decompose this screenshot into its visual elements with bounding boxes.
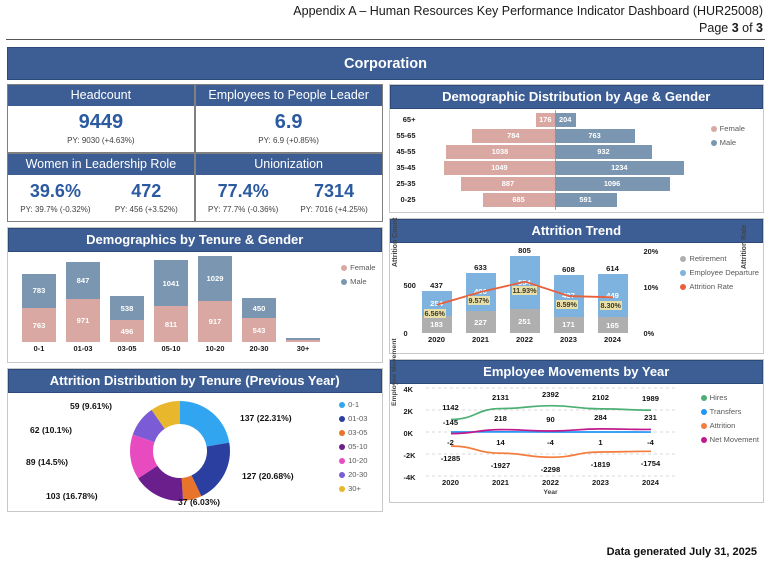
- movements-data-label: 14: [480, 438, 522, 447]
- tenure-segment-male: 847: [66, 262, 100, 299]
- pyramid-bar-male[interactable]: 763: [555, 129, 635, 143]
- panel-title-attrition-trend: Attrition Trend: [390, 219, 764, 243]
- tenure-tick-label: 03-05: [110, 344, 144, 353]
- pyramid-track: 176204: [420, 113, 690, 127]
- pyramid-age-label: 55-65: [390, 131, 420, 140]
- legend-color-dot: [341, 265, 347, 271]
- donut-slice-label: 62 (10.1%): [30, 425, 72, 435]
- movements-tick-label: 2021: [479, 478, 523, 487]
- panel-title-demographic-distribution: Demographic Distribution by Age & Gender: [390, 85, 764, 109]
- chart-employee-movements[interactable]: Employee Movement -4K-2K0K2K4K 114221312…: [390, 384, 764, 502]
- movements-line-attrition[interactable]: [451, 446, 651, 457]
- kpi-prior-year: PY: 77.7% (-0.36%): [198, 204, 289, 215]
- legend-item: Female: [341, 262, 375, 274]
- legend-label: Attrition Rate: [689, 281, 733, 293]
- pyramid-row: 0-25685591: [390, 192, 764, 207]
- kpi-value: 472: [101, 180, 192, 203]
- corporation-banner: Corporation: [7, 47, 764, 80]
- attrition-rate-label: 11.93%: [512, 286, 538, 295]
- movements-x-axis-title: Year: [426, 489, 676, 496]
- kpi-metric: 9449 PY: 9030 (+4.63%): [10, 111, 192, 146]
- movements-y-tick: 4K: [404, 385, 413, 394]
- page-prefix: Page: [699, 21, 732, 35]
- legend-color-dot: [701, 423, 707, 429]
- tenure-segment-male: 1041: [154, 260, 188, 306]
- tenure-tick-label: 30+: [286, 344, 320, 353]
- tenure-legend: FemaleMale: [341, 262, 375, 290]
- footer-generated: Data generated July 31, 2025: [607, 546, 757, 558]
- pyramid-age-label: 0-25: [390, 195, 420, 204]
- legend-color-dot: [711, 126, 717, 132]
- movements-data-label: -4: [530, 438, 572, 447]
- legend-label: Male: [720, 137, 736, 149]
- pyramid-bar-female[interactable]: 1038: [446, 145, 555, 159]
- pyramid-row: 35-4510491234: [390, 160, 764, 175]
- panel-demographic-distribution: Demographic Distribution by Age & Gender…: [389, 84, 765, 213]
- attrition-y2-tick: 0%: [644, 329, 655, 338]
- legend-item: 05-10: [339, 441, 367, 453]
- legend-color-dot: [339, 472, 345, 478]
- pyramid-age-label: 65+: [390, 115, 420, 124]
- kpi-value: 39.6%: [10, 180, 101, 203]
- pyramid-age-label: 45-55: [390, 147, 420, 156]
- movements-data-label: -1927: [480, 461, 522, 470]
- kpi-prior-year: PY: 456 (+3.52%): [101, 204, 192, 215]
- pyramid-bar-female[interactable]: 685: [483, 193, 555, 207]
- pyramid-bar-male[interactable]: 932: [555, 145, 653, 159]
- donut-slice-label: 137 (22.31%): [240, 413, 292, 423]
- donut-slice-label: 103 (16.78%): [46, 491, 98, 501]
- attrition-legend: RetirementEmployee DepartureAttrition Ra…: [680, 253, 759, 295]
- tenure-tick-label: 0-1: [22, 344, 56, 353]
- legend-item: Female: [711, 123, 745, 135]
- tenure-segment-female: 971: [66, 299, 100, 342]
- movements-data-label: 1142: [430, 403, 472, 412]
- pyramid-bar-female[interactable]: 1049: [444, 161, 554, 175]
- tenure-tick-label: 20-30: [242, 344, 276, 353]
- tenure-segment-male: 1029: [198, 256, 232, 301]
- dashboard-grid: Headcount 9449 PY: 9030 (+4.63%) Employe…: [0, 80, 771, 512]
- legend-color-dot: [339, 444, 345, 450]
- movements-data-label: -2298: [530, 465, 572, 474]
- pyramid-bar-female[interactable]: 176: [536, 113, 554, 127]
- tenure-column[interactable]: 847971: [66, 262, 100, 342]
- legend-item: 30+: [339, 483, 367, 495]
- attrition-rate-label: 6.56%: [424, 309, 446, 318]
- legend-item: Attrition: [701, 420, 759, 432]
- attrition-tick-label: 2023: [549, 335, 589, 344]
- legend-color-dot: [711, 140, 717, 146]
- movements-data-label: 2102: [580, 393, 622, 402]
- legend-label: 0-1: [348, 399, 359, 411]
- chart-demographic-distribution[interactable]: 65+17620455-6578476345-55103893235-45104…: [390, 109, 764, 212]
- tenure-segment-male: 538: [110, 296, 144, 320]
- tenure-tick-label: 05-10: [154, 344, 188, 353]
- kpi-prior-year: PY: 6.9 (+0.85%): [198, 135, 380, 146]
- movements-data-label: -1754: [630, 459, 672, 468]
- tenure-segment-female: 811: [154, 306, 188, 342]
- kpi-metric: 472 PY: 456 (+3.52%): [101, 180, 192, 215]
- legend-label: Employee Departure: [689, 267, 759, 279]
- attrition-y-axis-label: Attrition Count: [392, 218, 399, 267]
- pyramid-track: 685591: [420, 193, 690, 207]
- kpi-card-headcount[interactable]: Headcount 9449 PY: 9030 (+4.63%): [7, 84, 195, 153]
- kpi-prior-year: PY: 39.7% (-0.32%): [10, 204, 101, 215]
- kpi-metric: 39.6% PY: 39.7% (-0.32%): [10, 180, 101, 215]
- legend-label: Female: [720, 123, 745, 135]
- movements-tick-label: 2024: [629, 478, 673, 487]
- legend-color-dot: [339, 458, 345, 464]
- legend-label: 05-10: [348, 441, 367, 453]
- donut-graphic: [128, 399, 232, 503]
- legend-color-dot: [701, 395, 707, 401]
- chart-attrition-trend[interactable]: Attrition Count Attrition Rate 05000%10%…: [390, 243, 764, 353]
- legend-label: Female: [350, 262, 375, 274]
- movements-tick-label: 2022: [529, 478, 573, 487]
- pyramid-bar-male[interactable]: 1234: [555, 161, 685, 175]
- legend-color-dot: [701, 437, 707, 443]
- tenure-tick-label: 01-03: [66, 344, 100, 353]
- movements-y-tick: 2K: [404, 407, 413, 416]
- legend-item: Net Movement: [701, 434, 759, 446]
- tenure-segment-male: 783: [22, 274, 56, 309]
- pyramid-bar-female[interactable]: 887: [461, 177, 554, 191]
- page-middle: of: [739, 21, 756, 35]
- page-number: Page 3 of 3: [8, 21, 763, 36]
- tenure-column[interactable]: 538496: [110, 296, 144, 342]
- pyramid-track: 10491234: [420, 161, 690, 175]
- legend-color-dot: [339, 416, 345, 422]
- movements-tick-label: 2023: [579, 478, 623, 487]
- movements-tick-label: 2020: [429, 478, 473, 487]
- attrition-rate-label: 9.57%: [468, 296, 490, 305]
- tenure-column[interactable]: 783763: [22, 274, 56, 342]
- donut-slice[interactable]: [180, 401, 229, 446]
- kpi-card-group: Headcount 9449 PY: 9030 (+4.63%) Employe…: [7, 84, 383, 222]
- tenure-segment-female: 496: [110, 320, 144, 342]
- pyramid-track: 784763: [420, 129, 690, 143]
- kpi-metric: 6.9 PY: 6.9 (+0.85%): [198, 111, 380, 146]
- movements-data-label: 284: [580, 413, 622, 422]
- legend-color-dot: [680, 284, 686, 290]
- donut-legend: 0-101-0303-0505-1010-2020-3030+: [339, 399, 367, 497]
- dashboard-right-column: Demographic Distribution by Age & Gender…: [389, 84, 765, 512]
- pyramid-row: 45-551038932: [390, 144, 764, 159]
- kpi-title-women-in-leadership-role: Women in Leadership Role: [8, 154, 194, 175]
- legend-label: Retirement: [689, 253, 726, 265]
- movements-data-label: 1989: [630, 394, 672, 403]
- legend-color-dot: [680, 256, 686, 262]
- movements-y-tick: 0K: [404, 429, 413, 438]
- kpi-card-employees-to-people-leader[interactable]: Employees to People Leader 6.9 PY: 6.9 (…: [195, 84, 383, 153]
- attrition-rate-label: 8.30%: [600, 301, 622, 310]
- legend-label: 20-30: [348, 469, 367, 481]
- kpi-metric: 77.4% PY: 77.7% (-0.36%): [198, 180, 289, 215]
- movements-data-label: 231: [630, 413, 672, 422]
- legend-label: 03-05: [348, 427, 367, 439]
- donut-slice-label: 89 (14.5%): [26, 457, 68, 467]
- movements-plot-area: 11422131239221021989-214-41-4-1285-1927-…: [426, 388, 676, 476]
- attrition-tick-label: 2021: [461, 335, 501, 344]
- pyramid-row: 25-358871096: [390, 176, 764, 191]
- kpi-card-women-in-leadership-role[interactable]: Women in Leadership Role 39.6% PY: 39.7%…: [7, 153, 195, 222]
- kpi-title-employees-to-people-leader: Employees to People Leader: [196, 85, 382, 106]
- tenure-segment-male: 450: [242, 298, 276, 318]
- tenure-segment-female: 543: [242, 318, 276, 342]
- kpi-title-headcount: Headcount: [8, 85, 194, 106]
- donut-svg: [128, 399, 232, 503]
- movements-data-label: -4: [630, 438, 672, 447]
- tenure-column[interactable]: 450543: [242, 298, 276, 342]
- legend-color-dot: [339, 486, 345, 492]
- kpi-prior-year: PY: 9030 (+4.63%): [10, 135, 192, 146]
- kpi-value: 77.4%: [198, 180, 289, 203]
- dashboard-left-column: Headcount 9449 PY: 9030 (+4.63%) Employe…: [7, 84, 383, 512]
- corporation-banner-label: Corporation: [344, 56, 427, 72]
- legend-item: 10-20: [339, 455, 367, 467]
- kpi-value: 9449: [10, 111, 192, 134]
- pyramid-row: 55-65784763: [390, 128, 764, 143]
- tenure-segment-female: 917: [198, 301, 232, 342]
- pyramid-bar-female[interactable]: 784: [472, 129, 554, 143]
- legend-item: Attrition Rate: [680, 281, 759, 293]
- movements-y-axis-label: Employee Movement: [391, 338, 398, 406]
- legend-color-dot: [339, 402, 345, 408]
- tenure-x-axis: 0-101-0303-0505-1010-2020-3030+: [8, 344, 382, 353]
- tenure-column[interactable]: 1041811: [154, 260, 188, 342]
- panel-title-attrition-distribution: Attrition Distribution by Tenure (Previo…: [8, 369, 382, 393]
- attrition-y-tick: 0: [404, 329, 408, 338]
- attrition-tick-label: 2022: [505, 335, 545, 344]
- tenure-segment-female: [286, 340, 320, 342]
- legend-color-dot: [341, 279, 347, 285]
- kpi-metric: 7314 PY: 7016 (+4.25%): [289, 180, 380, 215]
- tenure-column[interactable]: 1029917: [198, 256, 232, 342]
- attrition-tick-label: 2024: [593, 335, 633, 344]
- legend-color-dot: [680, 270, 686, 276]
- legend-item: Employee Departure: [680, 267, 759, 279]
- legend-label: Hires: [710, 392, 728, 404]
- movements-data-label: 218: [480, 414, 522, 423]
- legend-label: Transfers: [710, 406, 742, 418]
- pyramid-track: 8871096: [420, 177, 690, 191]
- panel-attrition-trend: Attrition Trend Attrition Count Attritio…: [389, 218, 765, 354]
- panel-title-employee-movements: Employee Movements by Year: [390, 360, 764, 384]
- kpi-value: 7314: [289, 180, 380, 203]
- attrition-tick-label: 2020: [417, 335, 457, 344]
- movements-data-label: 2131: [480, 393, 522, 402]
- kpi-prior-year: PY: 7016 (+4.25%): [289, 204, 380, 215]
- appendix-title: Appendix A – Human Resources Key Perform…: [8, 4, 763, 19]
- page-header: Appendix A – Human Resources Key Perform…: [0, 0, 771, 36]
- panel-employee-movements: Employee Movements by Year Employee Move…: [389, 359, 765, 503]
- kpi-title-unionization: Unionization: [196, 154, 382, 175]
- legend-color-dot: [701, 409, 707, 415]
- chart-attrition-distribution[interactable]: 137 (22.31%)127 (20.68%)37 (6.03%)103 (1…: [8, 393, 382, 511]
- movements-data-label: 90: [530, 415, 572, 424]
- legend-item: Male: [341, 276, 375, 288]
- attrition-plot-area: 2541834374062276335542518054371716084491…: [420, 247, 640, 333]
- attrition-y2-tick: 20%: [644, 247, 659, 256]
- tenure-segment-female: 763: [22, 308, 56, 342]
- kpi-value: 6.9: [198, 111, 380, 134]
- panel-attrition-distribution: Attrition Distribution by Tenure (Previo…: [7, 368, 383, 512]
- legend-item: Male: [711, 137, 745, 149]
- legend-item: Retirement: [680, 253, 759, 265]
- chart-demographics-by-tenure[interactable]: 78376384797153849610418111029917450543 0…: [8, 252, 382, 362]
- pyramid-rows: 65+17620455-6578476345-55103893235-45104…: [390, 112, 764, 207]
- legend-color-dot: [339, 430, 345, 436]
- movements-data-label: -2: [430, 438, 472, 447]
- movements-data-label: -145: [430, 418, 472, 427]
- pyramid-bar-male[interactable]: 591: [555, 193, 617, 207]
- page-total: 3: [756, 21, 763, 35]
- legend-label: 10-20: [348, 455, 367, 467]
- movements-data-label: 1: [580, 438, 622, 447]
- legend-item: 0-1: [339, 399, 367, 411]
- attrition-y-tick: 500: [404, 281, 416, 290]
- movements-y-tick: -2K: [404, 451, 416, 460]
- legend-item: Hires: [701, 392, 759, 404]
- panel-demographics-by-tenure: Demographics by Tenure & Gender 78376384…: [7, 227, 383, 363]
- movements-data-label: -1819: [580, 460, 622, 469]
- tenure-bars: 78376384797153849610418111029917450543: [8, 252, 382, 342]
- legend-item: 03-05: [339, 427, 367, 439]
- donut-slice-label: 127 (20.68%): [242, 471, 294, 481]
- header-divider: [6, 39, 765, 40]
- donut-slice-label: 59 (9.61%): [70, 401, 112, 411]
- legend-label: 01-03: [348, 413, 367, 425]
- legend-item: Transfers: [701, 406, 759, 418]
- pyramid-age-label: 35-45: [390, 163, 420, 172]
- panel-title-demographics-by-tenure: Demographics by Tenure & Gender: [8, 228, 382, 252]
- tenure-tick-label: 10-20: [198, 344, 232, 353]
- pyramid-legend: FemaleMale: [711, 123, 745, 151]
- pyramid-age-label: 25-35: [390, 179, 420, 188]
- pyramid-track: 1038932: [420, 145, 690, 159]
- legend-label: Attrition: [710, 420, 736, 432]
- legend-item: 20-30: [339, 469, 367, 481]
- movements-data-label: -1285: [430, 454, 472, 463]
- page-current: 3: [732, 21, 739, 35]
- legend-label: Net Movement: [710, 434, 759, 446]
- pyramid-row: 65+176204: [390, 112, 764, 127]
- tenure-column[interactable]: [286, 338, 320, 342]
- legend-label: Male: [350, 276, 366, 288]
- attrition-rate-label: 8.59%: [556, 300, 578, 309]
- movements-y-tick: -4K: [404, 473, 416, 482]
- donut-slice-label: 37 (6.03%): [178, 497, 220, 507]
- pyramid-bar-male[interactable]: 204: [555, 113, 576, 127]
- pyramid-bar-male[interactable]: 1096: [555, 177, 670, 191]
- legend-item: 01-03: [339, 413, 367, 425]
- kpi-card-unionization[interactable]: Unionization 77.4% PY: 77.7% (-0.36%) 73…: [195, 153, 383, 222]
- legend-label: 30+: [348, 483, 361, 495]
- attrition-y2-tick: 10%: [644, 283, 659, 292]
- movements-legend: HiresTransfersAttritionNet Movement: [701, 392, 759, 448]
- movements-data-label: 2392: [530, 390, 572, 399]
